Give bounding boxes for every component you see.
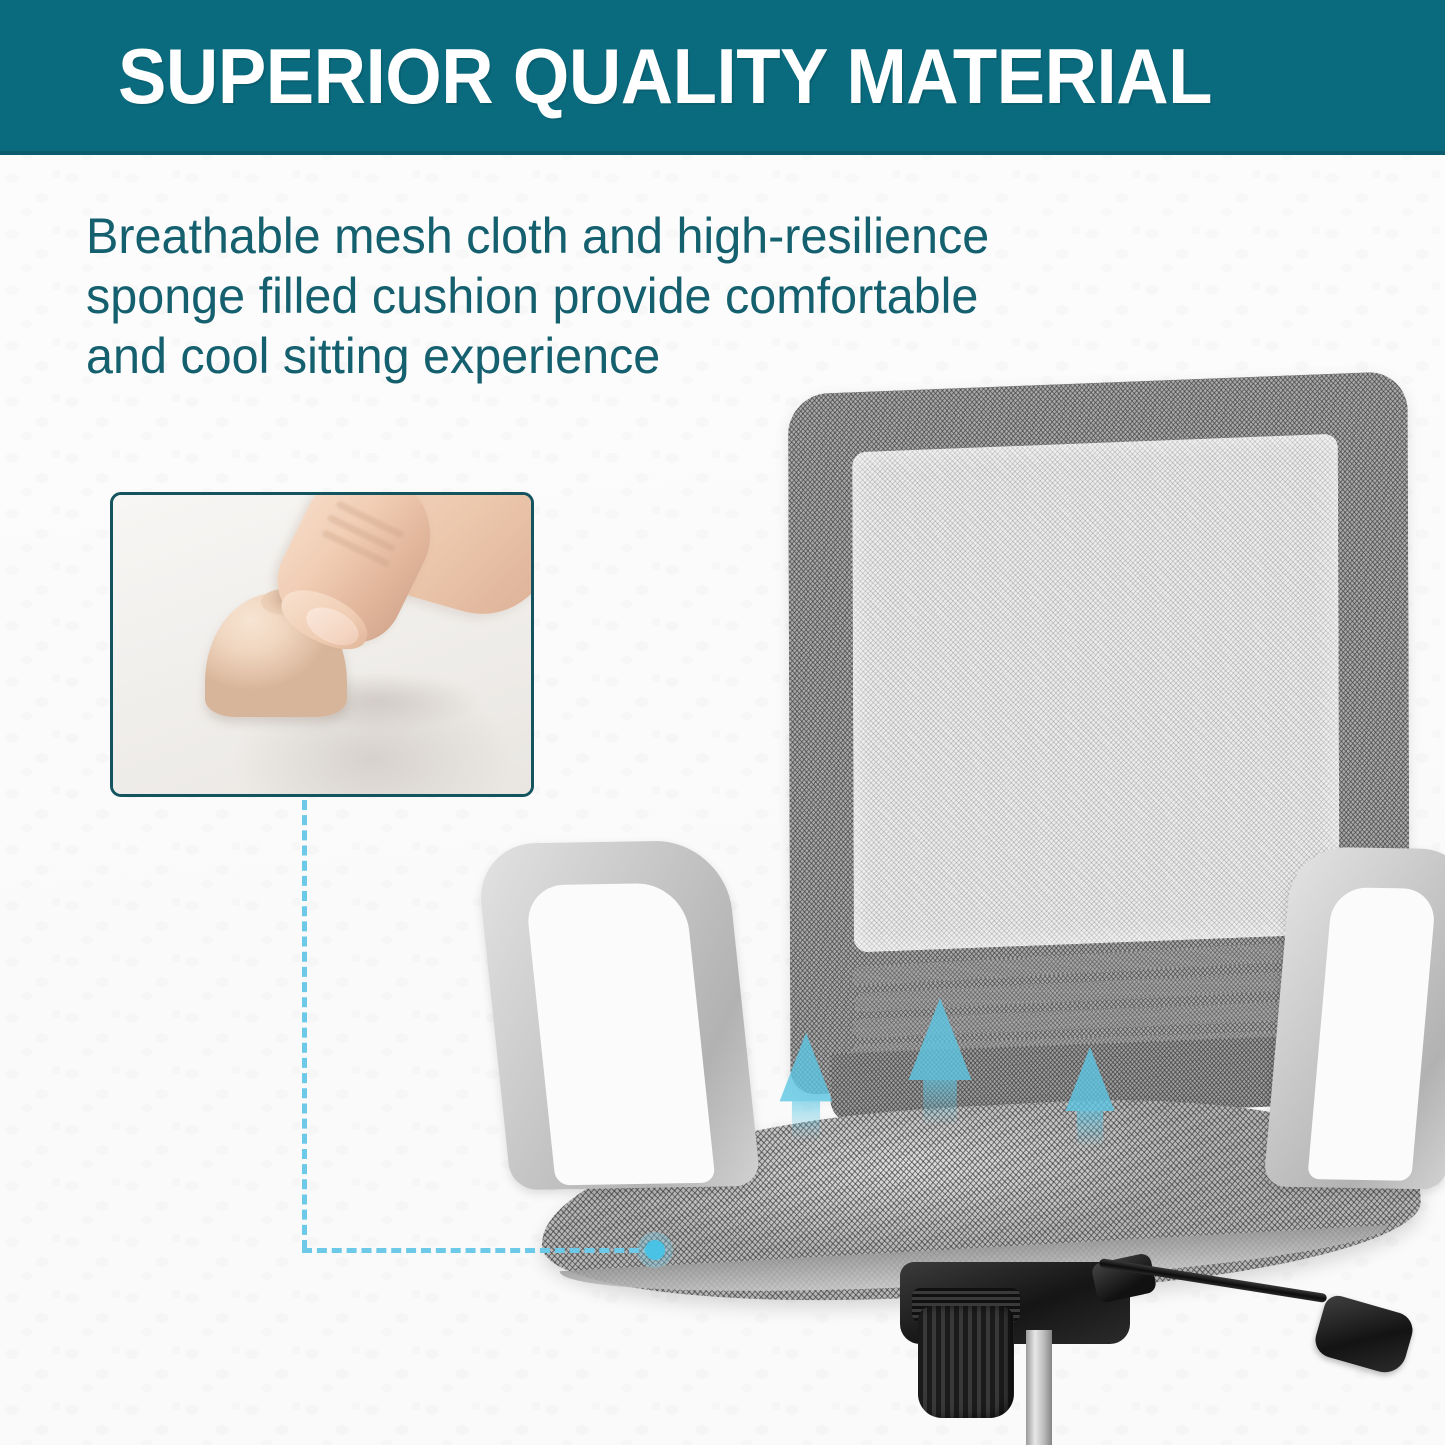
airflow-arrow-icon [909,998,972,1080]
chair-backrest-mesh-panel [852,434,1339,953]
airflow-arrow-icon [1065,1047,1114,1111]
foam-resilience-inset-card [110,492,534,797]
product-feature-card: SUPERIOR QUALITY MATERIAL Breathable mes… [0,0,1445,1445]
callout-endpoint-dot [645,1240,665,1260]
foam-resilience-photo [113,495,531,794]
callout-line-horizontal [302,1248,654,1253]
chair-tension-knob [918,1306,1014,1418]
chair-left-armrest-opening [524,883,715,1186]
airflow-arrow-icon [780,1033,833,1102]
callout-line-vertical [302,800,307,1250]
chair-gas-cylinder [1026,1330,1052,1445]
chair-tilt-lever-grip [1311,1293,1417,1378]
